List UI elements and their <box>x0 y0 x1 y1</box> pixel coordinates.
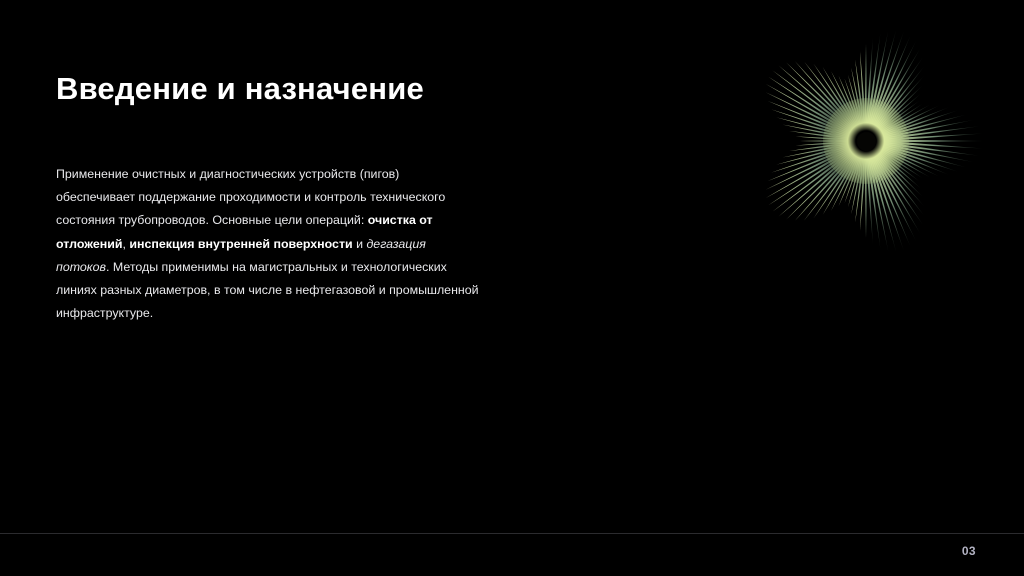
starburst-ray <box>864 44 867 132</box>
starburst-ray <box>823 67 863 134</box>
starburst-ray <box>831 148 863 210</box>
starburst-ray <box>845 79 865 133</box>
starburst-ray <box>870 66 924 135</box>
starburst-ray <box>773 145 860 211</box>
starburst-ray <box>870 57 923 135</box>
starburst-ray <box>777 142 858 165</box>
starburst-ray <box>873 145 923 179</box>
starburst-ray <box>873 104 923 138</box>
starburst-ray <box>773 70 860 136</box>
starburst-ray <box>871 85 922 136</box>
starburst-ray <box>872 101 919 137</box>
starburst-ray <box>874 107 949 139</box>
core-glow <box>823 98 909 184</box>
starburst-ray <box>872 146 921 189</box>
starburst-ray <box>768 101 859 139</box>
starburst-ray <box>869 148 920 234</box>
starburst-ray <box>786 62 860 135</box>
starburst-ray <box>789 141 857 151</box>
starburst-ray <box>860 150 867 231</box>
starburst-ray <box>768 143 859 181</box>
starburst-ray <box>867 31 903 133</box>
starburst-ray <box>875 140 983 148</box>
starburst-ray <box>866 33 881 133</box>
starburst-ray <box>796 136 858 142</box>
starburst-ray <box>869 148 917 241</box>
starburst-ray <box>855 60 866 133</box>
starburst-ray <box>871 76 924 135</box>
starburst-ray <box>795 147 861 221</box>
starburst-ray <box>771 109 858 139</box>
starburst-ray <box>851 150 866 215</box>
starburst-ray <box>871 146 922 197</box>
starburst-ray <box>777 117 858 140</box>
starburst-ray <box>796 140 858 146</box>
starburst-ray <box>795 61 861 135</box>
starburst-ray <box>839 149 864 207</box>
starburst-ray <box>855 150 866 223</box>
starburst-ray <box>868 35 911 133</box>
body-paragraph: Применение очистных и диагностических ус… <box>56 163 481 325</box>
page-title: Введение и назначение <box>56 72 424 106</box>
starburst-ray <box>831 71 863 133</box>
starburst-ray <box>871 147 924 206</box>
core-hole <box>857 132 876 151</box>
starburst-ray <box>860 51 867 132</box>
starburst-ray <box>873 104 930 138</box>
starburst-ray <box>870 148 923 226</box>
starburst-ray <box>875 141 974 162</box>
starburst-ray <box>768 77 859 138</box>
starburst-ray <box>766 144 859 190</box>
starburst-ray <box>875 139 984 142</box>
starburst-ray <box>851 68 866 133</box>
starburst-ray <box>783 141 858 157</box>
starburst-ray <box>869 48 920 134</box>
starburst-ray <box>814 64 863 135</box>
starburst-ray <box>875 120 974 141</box>
starburst-ray <box>872 94 921 137</box>
starburst-ray <box>789 131 857 141</box>
starburst-ray <box>873 144 930 178</box>
starburst-ray <box>814 148 863 219</box>
footer-divider <box>0 533 1024 534</box>
starburst-ray <box>804 147 861 220</box>
starburst-ray <box>771 142 858 172</box>
starburst-ray <box>779 66 861 137</box>
starburst-ray <box>804 62 861 135</box>
starburst-spirograph-graphic <box>744 24 988 258</box>
text-run-normal: . Методы применимы на магистральных и те… <box>56 260 479 320</box>
starburst-ray <box>866 150 881 250</box>
page-number: 03 <box>962 544 976 558</box>
starburst-ray <box>873 105 939 138</box>
starburst-ray <box>865 37 873 132</box>
starburst-ray <box>867 29 897 132</box>
starburst-ray <box>875 141 980 156</box>
starburst-ray <box>867 149 897 252</box>
starburst-ray <box>872 145 919 181</box>
starburst-ray <box>779 146 861 217</box>
starburst-ray <box>874 114 966 140</box>
starburst-ray <box>864 150 867 238</box>
starburst-ray <box>800 139 857 142</box>
presentation-slide: Введение и назначение Применение очистны… <box>0 0 1024 576</box>
starburst-ray <box>868 149 911 247</box>
starburst-ray <box>845 149 865 203</box>
starburst-ray <box>766 144 859 198</box>
starburst-ray <box>848 149 865 207</box>
starburst-ray <box>768 145 859 206</box>
starburst-ray <box>866 150 888 253</box>
starburst-ray <box>823 148 863 215</box>
starburst-ray <box>766 92 859 138</box>
text-run-bold: инспекция внутренней поверхности <box>129 237 352 251</box>
starburst-ray <box>783 125 858 141</box>
starburst-ray <box>874 142 958 171</box>
starburst-ray <box>874 142 966 168</box>
starburst-ray <box>869 41 917 134</box>
starburst-ray <box>867 149 903 251</box>
starburst-ray <box>786 146 860 219</box>
text-run-normal: и <box>353 237 367 251</box>
starburst-ray <box>839 76 864 134</box>
starburst-ray <box>874 110 958 139</box>
starburst-ray <box>866 30 888 133</box>
starburst-ray <box>875 133 983 141</box>
ray-group <box>766 29 984 252</box>
starburst-ray <box>870 147 924 216</box>
starburst-ray <box>865 150 873 245</box>
starburst-ray <box>873 144 939 177</box>
starburst-ray <box>766 84 859 138</box>
starburst-ray <box>874 143 949 175</box>
starburst-ray <box>848 75 865 133</box>
starburst-ray <box>875 126 980 141</box>
starburst-rays-svg <box>744 24 988 258</box>
